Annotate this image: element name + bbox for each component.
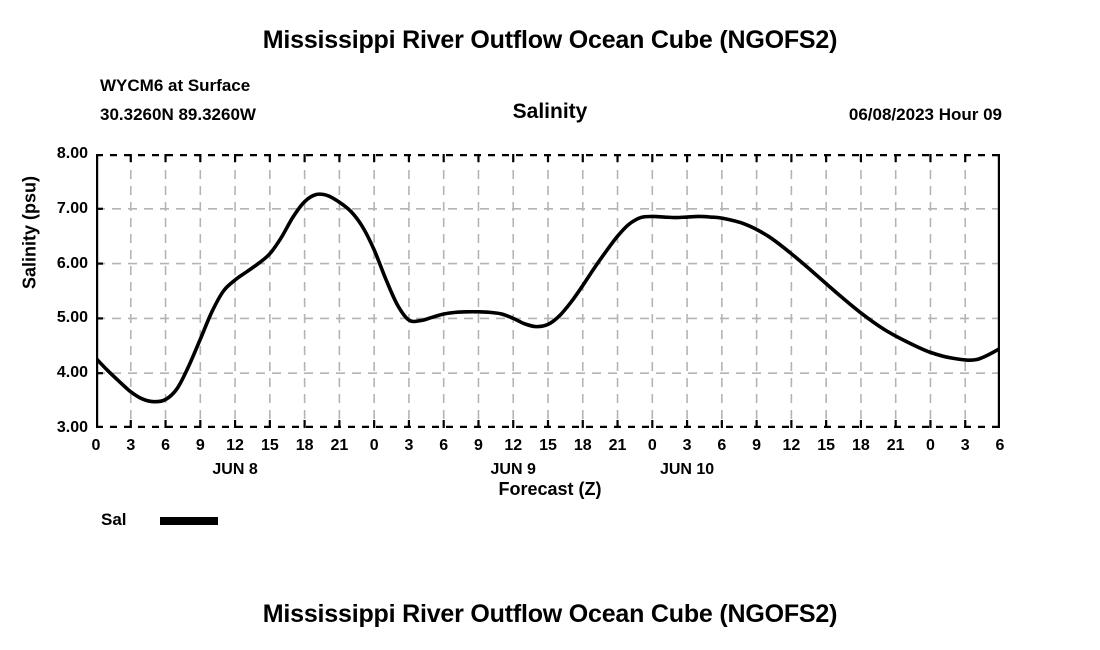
legend-swatch-sal bbox=[160, 517, 218, 525]
salinity-line-chart bbox=[96, 154, 1000, 428]
x-tick-label: 18 bbox=[290, 437, 320, 455]
x-tick-label: 6 bbox=[707, 437, 737, 455]
x-axis-label: Forecast (Z) bbox=[0, 479, 1100, 500]
y-tick-label: 8.00 bbox=[18, 145, 88, 163]
x-tick-label: 9 bbox=[742, 437, 772, 455]
x-axis-day-label: JUN 8 bbox=[175, 461, 295, 479]
x-tick-label: 3 bbox=[672, 437, 702, 455]
x-tick-label: 0 bbox=[359, 437, 389, 455]
x-tick-label: 12 bbox=[498, 437, 528, 455]
footer-title: Mississippi River Outflow Ocean Cube (NG… bbox=[0, 600, 1100, 629]
x-tick-label: 12 bbox=[776, 437, 806, 455]
y-tick-label: 3.00 bbox=[18, 419, 88, 437]
x-tick-label: 15 bbox=[255, 437, 285, 455]
page-title: Mississippi River Outflow Ocean Cube (NG… bbox=[0, 26, 1100, 55]
plot-area bbox=[96, 154, 1000, 428]
x-tick-label: 9 bbox=[463, 437, 493, 455]
x-tick-label: 3 bbox=[116, 437, 146, 455]
x-tick-label: 0 bbox=[915, 437, 945, 455]
y-tick-label: 7.00 bbox=[18, 200, 88, 218]
x-tick-label: 3 bbox=[950, 437, 980, 455]
gridlines bbox=[96, 154, 1000, 428]
y-tick-label: 4.00 bbox=[18, 364, 88, 382]
chart-page: Mississippi River Outflow Ocean Cube (NG… bbox=[0, 0, 1100, 650]
x-tick-label: 3 bbox=[394, 437, 424, 455]
x-tick-label: 21 bbox=[324, 437, 354, 455]
x-tick-label: 21 bbox=[603, 437, 633, 455]
x-axis-day-label: JUN 9 bbox=[453, 461, 573, 479]
y-tick-label: 6.00 bbox=[18, 255, 88, 273]
x-tick-label: 21 bbox=[881, 437, 911, 455]
x-tick-label: 18 bbox=[568, 437, 598, 455]
x-tick-label: 12 bbox=[220, 437, 250, 455]
y-tick-label: 5.00 bbox=[18, 309, 88, 327]
x-tick-label: 0 bbox=[637, 437, 667, 455]
x-axis-day-label: JUN 10 bbox=[627, 461, 747, 479]
x-tick-label: 15 bbox=[811, 437, 841, 455]
x-tick-label: 0 bbox=[81, 437, 111, 455]
station-label: WYCM6 at Surface bbox=[100, 76, 250, 96]
x-tick-label: 15 bbox=[533, 437, 563, 455]
x-tick-label: 9 bbox=[185, 437, 215, 455]
x-tick-label: 6 bbox=[429, 437, 459, 455]
x-tick-label: 18 bbox=[846, 437, 876, 455]
x-tick-label: 6 bbox=[151, 437, 181, 455]
legend-label-sal: Sal bbox=[101, 510, 127, 530]
model-run-timestamp: 06/08/2023 Hour 09 bbox=[849, 105, 1002, 125]
x-tick-label: 6 bbox=[985, 437, 1015, 455]
